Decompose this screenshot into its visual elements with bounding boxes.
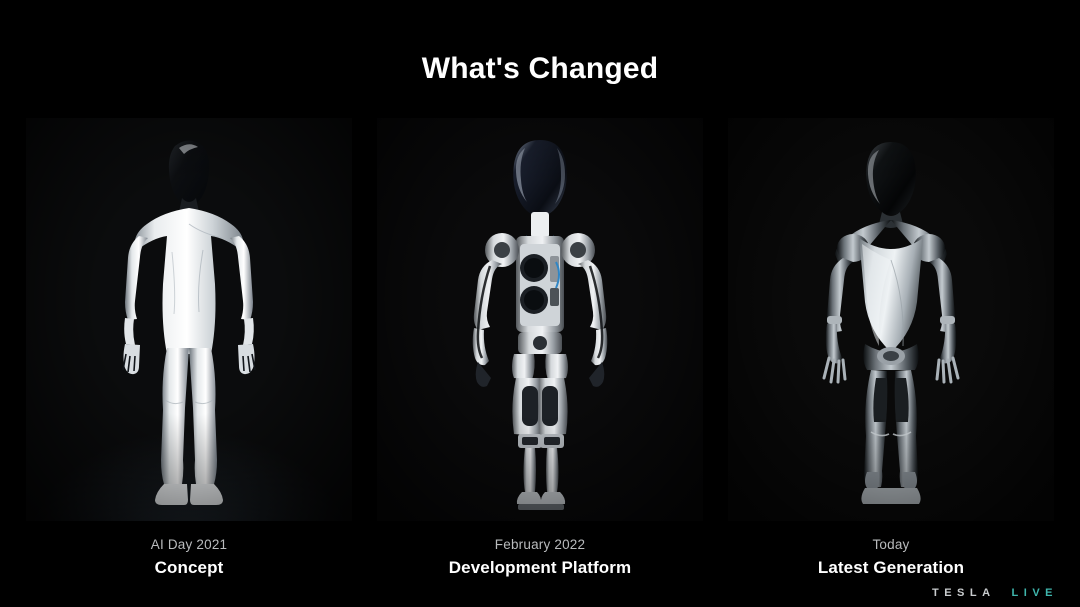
caption-name: Latest Generation bbox=[728, 556, 1054, 580]
caption-name: Development Platform bbox=[377, 556, 703, 580]
tesla-live-watermark: TESLA LIVE bbox=[932, 587, 1058, 599]
caption-concept: AI Day 2021 Concept bbox=[26, 536, 352, 580]
panel-development-platform[interactable] bbox=[377, 118, 703, 521]
caption-date: AI Day 2021 bbox=[26, 536, 352, 554]
caption-name: Concept bbox=[26, 556, 352, 580]
caption-development-platform: February 2022 Development Platform bbox=[377, 536, 703, 580]
caption-latest-generation: Today Latest Generation bbox=[728, 536, 1054, 580]
panel-concept[interactable] bbox=[26, 118, 352, 521]
panel-latest-generation[interactable] bbox=[728, 118, 1054, 521]
presentation-slide: What's Changed bbox=[0, 0, 1080, 607]
caption-date: Today bbox=[728, 536, 1054, 554]
comparison-panel-row bbox=[26, 118, 1054, 521]
tesla-bot-concept-figure bbox=[79, 132, 299, 510]
slide-title: What's Changed bbox=[0, 52, 1080, 86]
caption-date: February 2022 bbox=[377, 536, 703, 554]
tesla-wordmark: TESLA bbox=[932, 587, 996, 599]
live-badge: LIVE bbox=[1012, 587, 1058, 599]
tesla-bot-development-platform-figure bbox=[430, 132, 650, 521]
panel-captions: AI Day 2021 Concept February 2022 Develo… bbox=[26, 536, 1054, 580]
tesla-bot-latest-generation-figure bbox=[781, 132, 1001, 514]
